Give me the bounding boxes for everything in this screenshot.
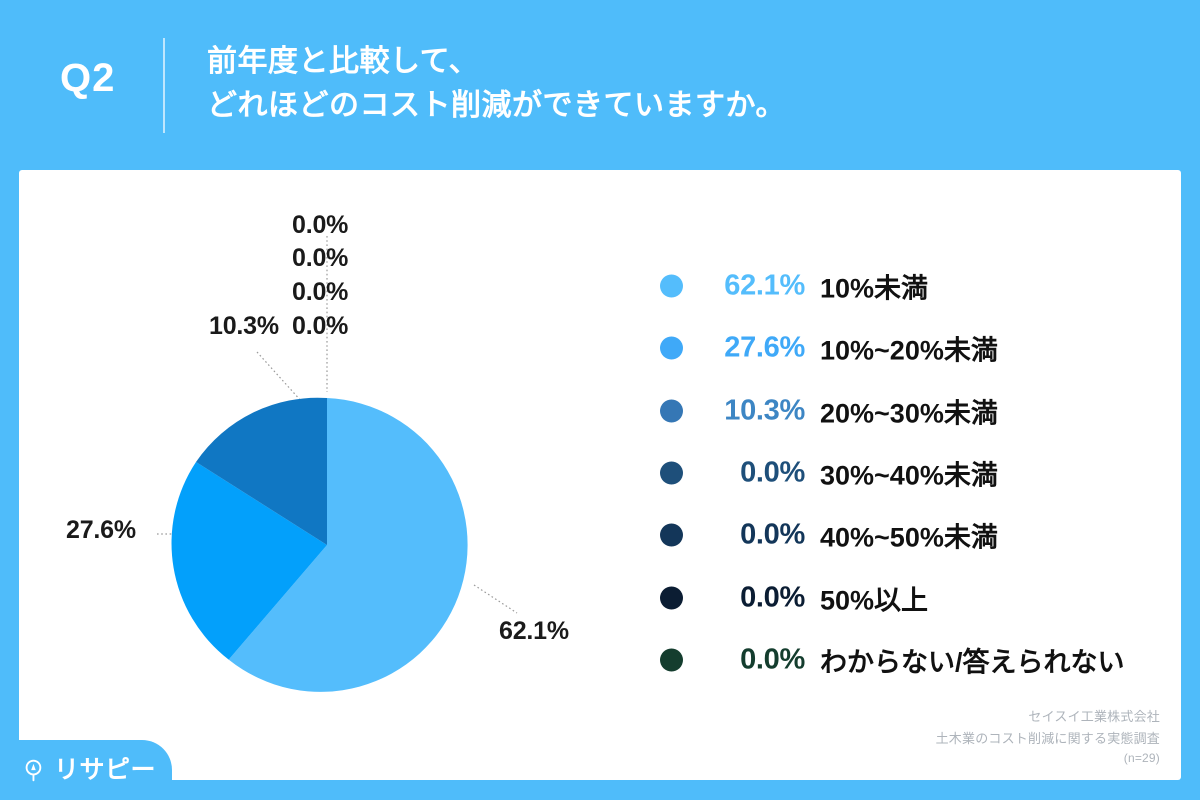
legend-percent: 0.0%	[689, 643, 805, 676]
legend-item-unknown[interactable]: 0.0% わからない/答えられない	[639, 629, 1181, 691]
legend-dot-icon	[660, 586, 683, 609]
legend-percent: 62.1%	[689, 270, 805, 303]
page-title-line-1: 前年度と比較して、	[207, 40, 1167, 84]
pie-label-62-1: 62.1%	[499, 617, 569, 646]
legend-dot-icon	[660, 648, 683, 671]
legend-dot-icon	[660, 337, 683, 360]
header-divider	[163, 38, 165, 133]
page-title: 前年度と比較して、 どれほどのコスト削減ができていますか。	[207, 40, 1167, 129]
legend-percent: 27.6%	[689, 332, 805, 365]
legend-dot-icon	[660, 275, 683, 298]
legend-percent: 0.0%	[689, 581, 805, 614]
pie-label-zero-3: 0.0%	[292, 278, 348, 307]
leader-line-10-3	[257, 352, 302, 402]
pin-search-icon	[22, 758, 47, 783]
legend-dot-icon	[660, 399, 683, 422]
legend-item-10-under[interactable]: 62.1% 10%未満	[639, 255, 1181, 317]
slide-root: Q2 前年度と比較して、 どれほどのコスト削減ができていますか。	[0, 0, 1200, 800]
content-card: 0.0% 0.0% 0.0% 0.0% 10.3% 27.6% 62.1% 62…	[19, 170, 1181, 780]
legend-label: 20%~30%未満	[820, 391, 998, 430]
brand-logo[interactable]: リサピー	[0, 740, 172, 800]
legend-item-50-over[interactable]: 0.0% 50%以上	[639, 566, 1181, 628]
leader-line-62-1	[474, 585, 517, 613]
slide-header: Q2 前年度と比較して、 どれほどのコスト削減ができていますか。	[0, 0, 1200, 170]
pie-chart-area: 0.0% 0.0% 0.0% 0.0% 10.3% 27.6% 62.1%	[19, 170, 639, 780]
source-sample-size: (n=29)	[936, 749, 1160, 768]
question-number: Q2	[60, 58, 115, 98]
legend-item-40-50[interactable]: 0.0% 40%~50%未満	[639, 504, 1181, 566]
source-survey: 土木業のコスト削減に関する実態調査	[936, 728, 1160, 749]
pie-label-10-3: 10.3%	[209, 312, 279, 341]
legend-item-20-30[interactable]: 10.3% 20%~30%未満	[639, 380, 1181, 442]
legend-label: 10%未満	[820, 267, 928, 306]
legend-item-30-40[interactable]: 0.0% 30%~40%未満	[639, 442, 1181, 504]
source-company: セイスイ工業株式会社	[936, 706, 1160, 727]
source-note: セイスイ工業株式会社 土木業のコスト削減に関する実態調査 (n=29)	[936, 706, 1160, 768]
legend-percent: 0.0%	[689, 519, 805, 552]
pie-label-zero-2: 0.0%	[292, 244, 348, 273]
pie-label-27-6: 27.6%	[66, 516, 136, 545]
legend-label: 40%~50%未満	[820, 516, 998, 555]
chart-legend: 62.1% 10%未満 27.6% 10%~20%未満 10.3% 20%~30…	[639, 255, 1181, 691]
legend-dot-icon	[660, 462, 683, 485]
legend-dot-icon	[660, 524, 683, 547]
pie-label-zero-1: 0.0%	[292, 211, 348, 240]
pie-label-zero-4: 0.0%	[292, 312, 348, 341]
page-title-line-2: どれほどのコスト削減ができていますか。	[207, 84, 1167, 128]
legend-percent: 0.0%	[689, 457, 805, 490]
legend-percent: 10.3%	[689, 394, 805, 427]
legend-label: 30%~40%未満	[820, 454, 998, 493]
legend-label: 10%~20%未満	[820, 329, 998, 368]
legend-item-10-20[interactable]: 27.6% 10%~20%未満	[639, 317, 1181, 379]
brand-logo-text: リサピー	[54, 758, 156, 783]
legend-label: 50%以上	[820, 578, 928, 617]
legend-label: わからない/答えられない	[820, 640, 1125, 679]
